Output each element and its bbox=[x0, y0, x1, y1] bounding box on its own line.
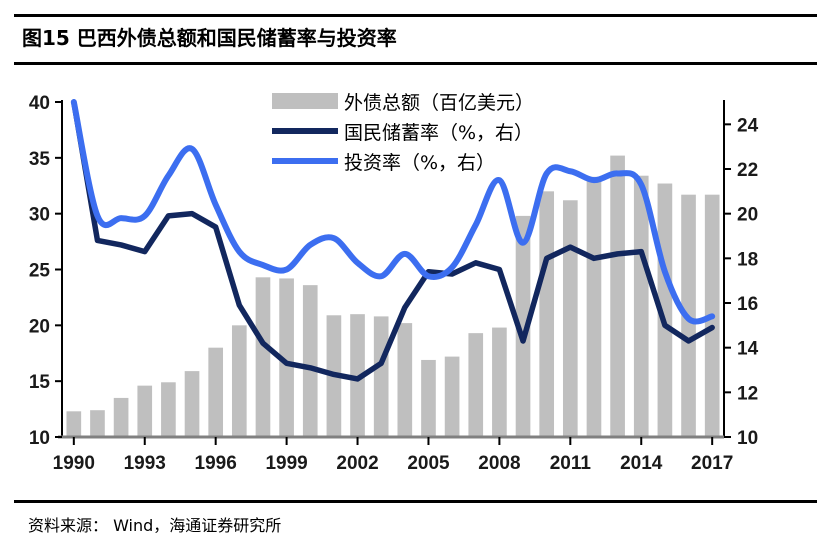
bar-2008 bbox=[492, 328, 507, 437]
bar-2007 bbox=[468, 333, 483, 437]
tick-label-left-35: 35 bbox=[29, 149, 51, 170]
chart-area: 1015202530354010121416182022241990199319… bbox=[0, 66, 831, 496]
tick-label-x-2002: 2002 bbox=[336, 453, 378, 474]
bar-1993 bbox=[137, 386, 152, 437]
bar-2000 bbox=[303, 285, 318, 437]
legend-swatch-investment bbox=[272, 158, 338, 164]
bar-1994 bbox=[161, 382, 176, 437]
tick-label-x-1993: 1993 bbox=[124, 453, 166, 474]
legend-label-savings: 国民储蓄率（%，右） bbox=[338, 118, 533, 145]
bar-2004 bbox=[397, 323, 412, 437]
bar-2010 bbox=[539, 191, 554, 437]
tick-label-left-10: 10 bbox=[29, 428, 50, 449]
legend-item-savings: 国民储蓄率（%，右） bbox=[272, 116, 534, 146]
bar-1992 bbox=[114, 398, 129, 437]
bar-1991 bbox=[90, 410, 105, 437]
legend-item-bars: 外债总额（百亿美元） bbox=[272, 86, 534, 116]
tick-label-x-2017: 2017 bbox=[691, 453, 733, 474]
bar-2003 bbox=[374, 316, 389, 437]
bar-2014 bbox=[634, 176, 649, 437]
tick-label-right-24: 24 bbox=[737, 115, 759, 136]
legend-swatch-bars bbox=[272, 93, 338, 109]
tick-label-x-1999: 1999 bbox=[265, 453, 307, 474]
bar-2012 bbox=[587, 177, 602, 437]
legend-label-bars: 外债总额（百亿美元） bbox=[338, 88, 534, 115]
tick-label-left-30: 30 bbox=[29, 205, 50, 226]
tick-label-left-15: 15 bbox=[29, 372, 51, 393]
tick-label-left-40: 40 bbox=[29, 93, 50, 114]
tick-label-x-2005: 2005 bbox=[407, 453, 450, 474]
tick-label-right-22: 22 bbox=[737, 160, 758, 181]
source-note: 资料来源： Wind，海通证券研究所 bbox=[28, 512, 281, 536]
bar-2006 bbox=[445, 357, 460, 437]
bar-1995 bbox=[185, 371, 200, 437]
page-title: 图15 巴西外债总额和国民储蓄率与投资率 bbox=[22, 22, 397, 51]
legend-item-investment: 投资率（%，右） bbox=[272, 146, 534, 176]
tick-label-right-16: 16 bbox=[737, 294, 758, 315]
tick-label-x-2011: 2011 bbox=[550, 453, 592, 474]
bar-1990 bbox=[66, 411, 81, 437]
tick-label-right-12: 12 bbox=[737, 383, 758, 404]
bar-1996 bbox=[208, 348, 223, 437]
bar-2013 bbox=[610, 156, 625, 437]
tick-label-right-18: 18 bbox=[737, 249, 758, 270]
legend-swatch-savings bbox=[272, 128, 338, 134]
tick-label-left-25: 25 bbox=[29, 261, 51, 282]
tick-label-right-10: 10 bbox=[737, 428, 758, 449]
bar-1997 bbox=[232, 325, 247, 437]
bar-1998 bbox=[256, 277, 271, 437]
tick-label-x-1990: 1990 bbox=[53, 453, 95, 474]
divider-under-title bbox=[14, 62, 817, 65]
tick-label-x-2008: 2008 bbox=[478, 453, 520, 474]
bar-2005 bbox=[421, 360, 436, 437]
tick-label-right-14: 14 bbox=[737, 339, 759, 360]
figure-panel: 图15 巴西外债总额和国民储蓄率与投资率 1015202530354010121… bbox=[0, 0, 831, 555]
tick-label-x-1996: 1996 bbox=[195, 453, 237, 474]
divider-top bbox=[14, 14, 817, 17]
tick-label-right-20: 20 bbox=[737, 205, 758, 226]
legend-label-investment: 投资率（%，右） bbox=[338, 148, 495, 175]
bar-2011 bbox=[563, 200, 578, 437]
tick-label-x-2014: 2014 bbox=[620, 453, 663, 474]
tick-label-left-20: 20 bbox=[29, 316, 50, 337]
chart-legend: 外债总额（百亿美元） 国民储蓄率（%，右） 投资率（%，右） bbox=[272, 86, 534, 176]
divider-footer bbox=[14, 500, 817, 503]
